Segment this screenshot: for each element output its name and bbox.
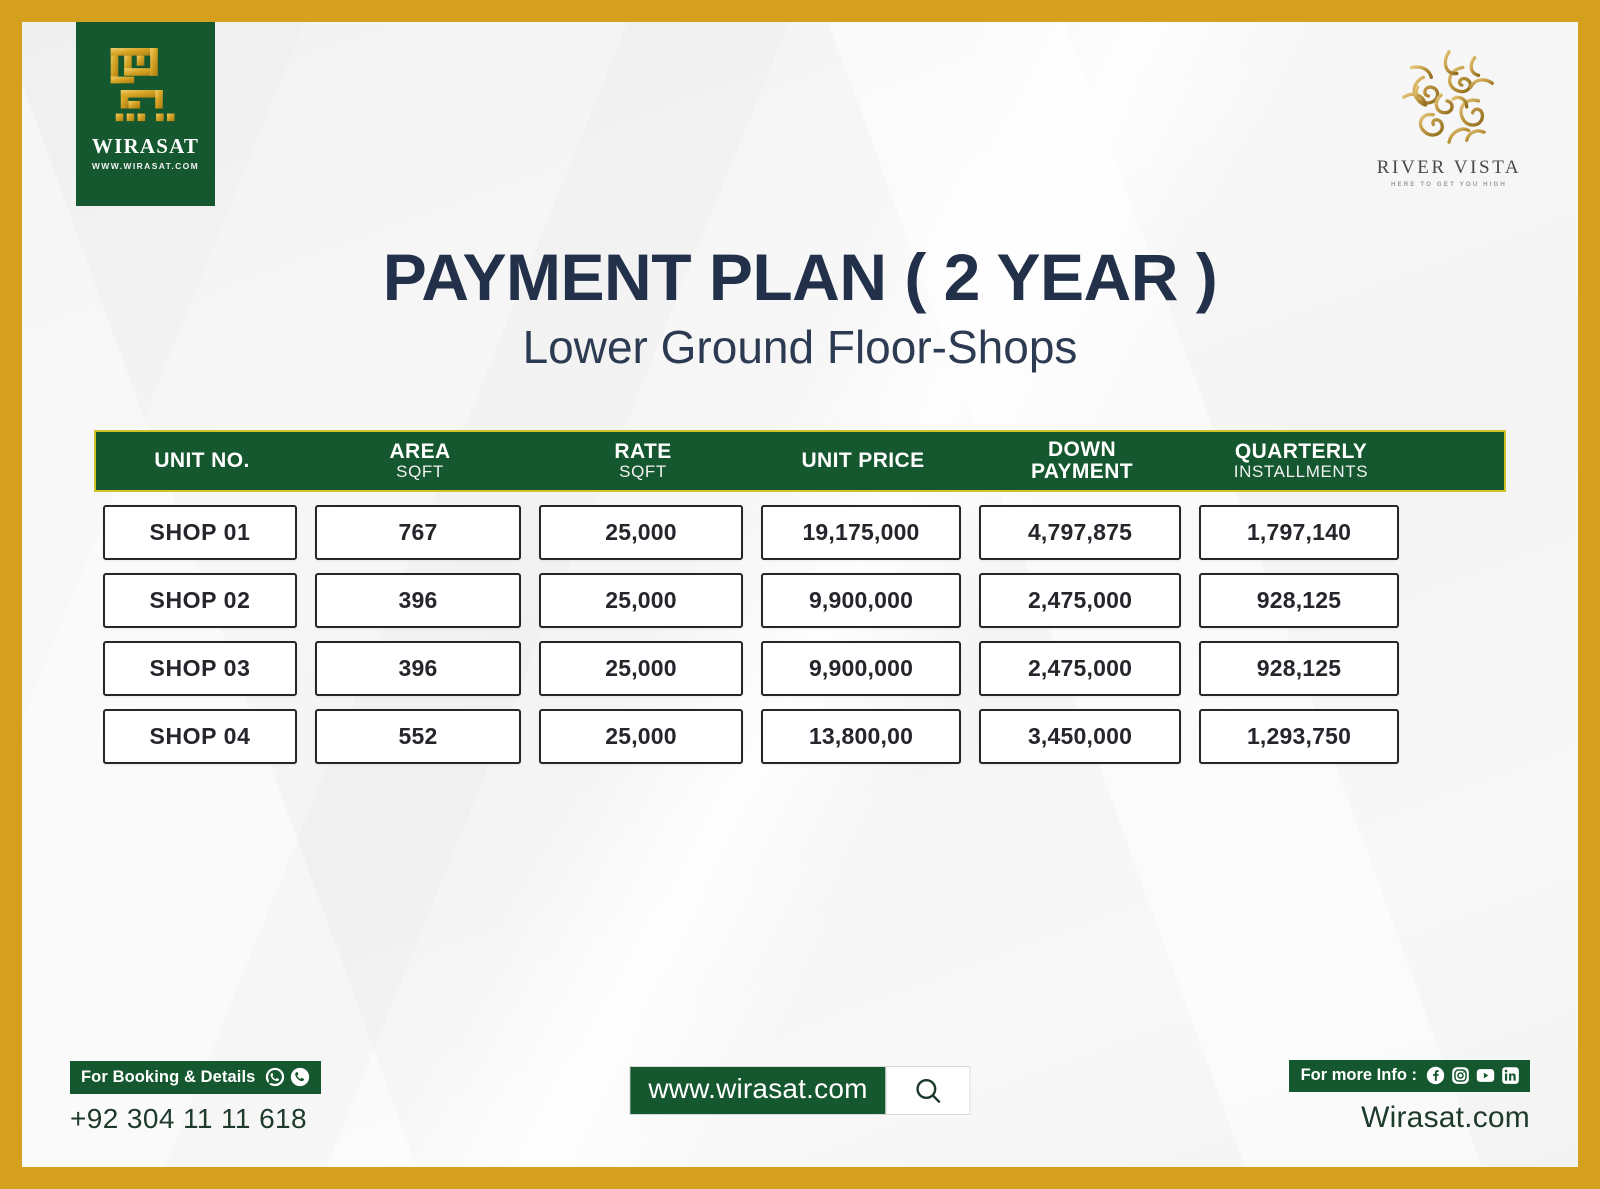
row1-unit-price-value: 9,900,000 — [761, 573, 961, 628]
instagram-icon[interactable] — [1451, 1066, 1470, 1085]
footer-booking-block: For Booking & Details +92 304 11 11 618 — [70, 1061, 321, 1135]
column-header-area-unit: SQFT — [312, 463, 528, 481]
cell-unit: SHOP 01 — [94, 505, 306, 560]
cell-down-payment: 3,450,000 — [970, 709, 1190, 764]
cell-unit: SHOP 03 — [94, 641, 306, 696]
cell-unit-price: 13,800,00 — [752, 709, 970, 764]
cell-rate: 25,000 — [530, 573, 752, 628]
wirasat-kufic-mark-icon — [104, 42, 188, 128]
poster-canvas: WIRASAT WWW.WIRASAT.COM — [22, 22, 1578, 1167]
cell-rate: 25,000 — [530, 709, 752, 764]
river-vista-logo-name: RIVER VISTA — [1364, 158, 1534, 177]
cell-down-payment: 2,475,000 — [970, 573, 1190, 628]
cell-quarterly: 1,293,750 — [1190, 709, 1408, 764]
payment-plan-table: UNIT NO. AREA SQFT RATE SQFT UNIT PRICE … — [94, 430, 1506, 764]
row0-rate-value: 25,000 — [539, 505, 743, 560]
river-vista-logo: RIVER VISTA HERE TO GET YOU HIGH — [1364, 38, 1534, 188]
cell-unit-price: 9,900,000 — [752, 573, 970, 628]
row1-rate-value: 25,000 — [539, 573, 743, 628]
column-header-down-payment-line2: PAYMENT — [976, 461, 1188, 483]
cell-unit: SHOP 02 — [94, 573, 306, 628]
table-row: SHOP 02 396 25,000 9,900,000 2,475,000 9… — [94, 573, 1506, 628]
column-header-area: AREA SQFT — [308, 441, 532, 481]
column-header-quarterly-label: QUARTERLY — [1196, 441, 1406, 463]
facebook-icon[interactable] — [1426, 1066, 1445, 1085]
cell-quarterly: 1,797,140 — [1190, 505, 1408, 560]
more-info-badge[interactable]: For more Info : — [1289, 1060, 1530, 1092]
row1-unit-value: SHOP 02 — [103, 573, 297, 628]
row0-unit-price-value: 19,175,000 — [761, 505, 961, 560]
row2-quarterly-value: 928,125 — [1199, 641, 1399, 696]
cell-down-payment: 4,797,875 — [970, 505, 1190, 560]
river-vista-swirl-mark-icon — [1390, 38, 1508, 156]
table-header-row: UNIT NO. AREA SQFT RATE SQFT UNIT PRICE … — [94, 430, 1506, 492]
cell-area: 767 — [306, 505, 530, 560]
row2-unit-price-value: 9,900,000 — [761, 641, 961, 696]
wirasat-logo: WIRASAT WWW.WIRASAT.COM — [76, 22, 215, 206]
booking-phone-number[interactable]: +92 304 11 11 618 — [70, 1103, 321, 1135]
river-vista-tagline: HERE TO GET YOU HIGH — [1364, 181, 1534, 188]
row1-down-payment-value: 2,475,000 — [979, 573, 1181, 628]
row2-rate-value: 25,000 — [539, 641, 743, 696]
footer-more-info-block: For more Info : — [1289, 1060, 1530, 1135]
page-subtitle: Lower Ground Floor-Shops — [22, 323, 1578, 371]
row0-down-payment-value: 4,797,875 — [979, 505, 1181, 560]
search-button[interactable] — [886, 1067, 970, 1114]
social-icon-row — [1426, 1066, 1520, 1085]
row3-area-value: 552 — [315, 709, 521, 764]
footer-brand-name[interactable]: Wirasat.com — [1289, 1101, 1530, 1135]
website-search-bar[interactable]: www.wirasat.com — [629, 1066, 970, 1115]
column-header-rate: RATE SQFT — [532, 441, 754, 481]
column-header-quarterly-sub: INSTALLMENTS — [1196, 463, 1406, 481]
cell-rate: 25,000 — [530, 505, 752, 560]
row0-unit-value: SHOP 01 — [103, 505, 297, 560]
search-icon — [912, 1075, 944, 1107]
cell-rate: 25,000 — [530, 641, 752, 696]
column-header-down-payment: DOWN PAYMENT — [972, 439, 1192, 483]
column-header-unit-no: UNIT NO. — [96, 450, 308, 472]
row3-rate-value: 25,000 — [539, 709, 743, 764]
column-header-unit-price: UNIT PRICE — [754, 450, 972, 472]
row0-quarterly-value: 1,797,140 — [1199, 505, 1399, 560]
more-info-label: For more Info : — [1301, 1067, 1417, 1084]
poster-frame: WIRASAT WWW.WIRASAT.COM — [0, 0, 1600, 1189]
cell-unit-price: 9,900,000 — [752, 641, 970, 696]
wirasat-logo-name: WIRASAT — [92, 136, 199, 157]
cell-quarterly: 928,125 — [1190, 641, 1408, 696]
booking-badge[interactable]: For Booking & Details — [70, 1061, 321, 1094]
table-row: SHOP 03 396 25,000 9,900,000 2,475,000 9… — [94, 641, 1506, 696]
wirasat-logo-url: WWW.WIRASAT.COM — [92, 161, 199, 171]
cell-quarterly: 928,125 — [1190, 573, 1408, 628]
column-header-unit-price-label: UNIT PRICE — [758, 450, 968, 472]
youtube-icon[interactable] — [1476, 1066, 1495, 1085]
row0-area-value: 767 — [315, 505, 521, 560]
table-row: SHOP 04 552 25,000 13,800,00 3,450,000 1… — [94, 709, 1506, 764]
cell-area: 552 — [306, 709, 530, 764]
column-header-unit-no-label: UNIT NO. — [100, 450, 304, 472]
title-block: PAYMENT PLAN ( 2 YEAR ) Lower Ground Flo… — [22, 244, 1578, 372]
row2-area-value: 396 — [315, 641, 521, 696]
cell-unit-price: 19,175,000 — [752, 505, 970, 560]
booking-badge-label: For Booking & Details — [81, 1069, 255, 1086]
column-header-rate-label: RATE — [536, 441, 750, 463]
phone-icon[interactable] — [290, 1067, 310, 1087]
whatsapp-icon[interactable] — [265, 1067, 285, 1087]
website-url-label[interactable]: www.wirasat.com — [630, 1067, 885, 1114]
cell-unit: SHOP 04 — [94, 709, 306, 764]
row2-unit-value: SHOP 03 — [103, 641, 297, 696]
booking-icon-row — [265, 1067, 310, 1087]
column-header-down-payment-line1: DOWN — [976, 439, 1188, 461]
linkedin-icon[interactable] — [1501, 1066, 1520, 1085]
column-header-quarterly: QUARTERLY INSTALLMENTS — [1192, 441, 1410, 481]
cell-area: 396 — [306, 573, 530, 628]
cell-area: 396 — [306, 641, 530, 696]
row2-down-payment-value: 2,475,000 — [979, 641, 1181, 696]
row3-unit-price-value: 13,800,00 — [761, 709, 961, 764]
row1-quarterly-value: 928,125 — [1199, 573, 1399, 628]
page-title: PAYMENT PLAN ( 2 YEAR ) — [22, 244, 1578, 311]
row3-down-payment-value: 3,450,000 — [979, 709, 1181, 764]
table-row: SHOP 01 767 25,000 19,175,000 4,797,875 … — [94, 505, 1506, 560]
row3-quarterly-value: 1,293,750 — [1199, 709, 1399, 764]
column-header-rate-unit: SQFT — [536, 463, 750, 481]
row3-unit-value: SHOP 04 — [103, 709, 297, 764]
row1-area-value: 396 — [315, 573, 521, 628]
cell-down-payment: 2,475,000 — [970, 641, 1190, 696]
column-header-area-label: AREA — [312, 441, 528, 463]
